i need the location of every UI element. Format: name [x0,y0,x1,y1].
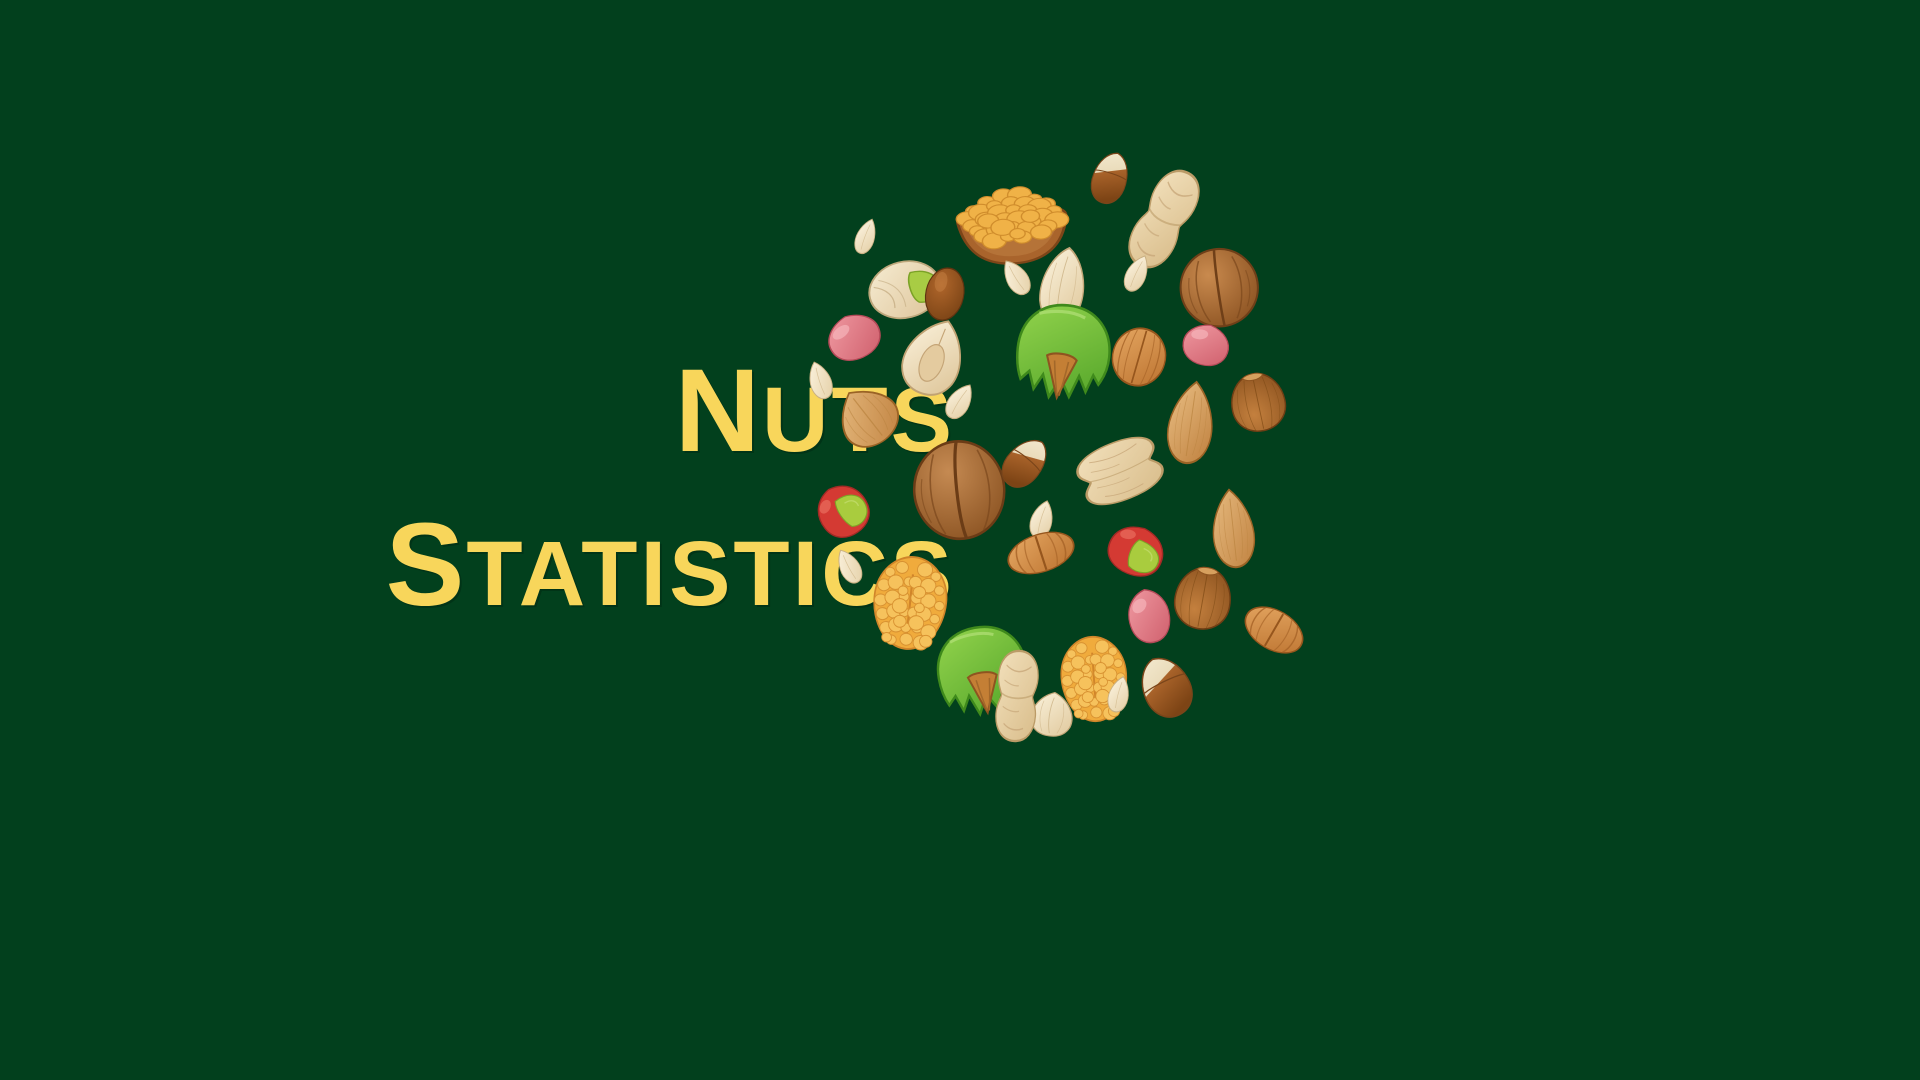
nut-seed-flake [847,214,884,259]
nut-pecan [1232,590,1316,670]
nut-hazelnut-whole [1223,366,1293,439]
nut-peanut-shell [1060,423,1181,518]
nut-walnut-half [904,430,1015,546]
nut-brazil-nut [1126,646,1206,729]
nuts-statistics-banner: NUTS STATISTICS [0,0,1920,1080]
title-line-2-capital: S [386,499,467,631]
nut-almond [1201,484,1265,571]
title-line-1-capital: N [675,345,762,477]
nut-husk-nut [1008,298,1119,416]
nut-hazelnut-whole [1168,560,1239,635]
nut-red-pistachio [1098,515,1175,586]
nut-red-pistachio [804,472,882,550]
nut-brazil-nut [1082,146,1139,210]
nut-pink-nut [1120,583,1177,648]
nuts-circle-collage [805,135,1435,755]
nut-peanut-shell [988,647,1046,744]
nut-seed-flake [828,543,871,590]
